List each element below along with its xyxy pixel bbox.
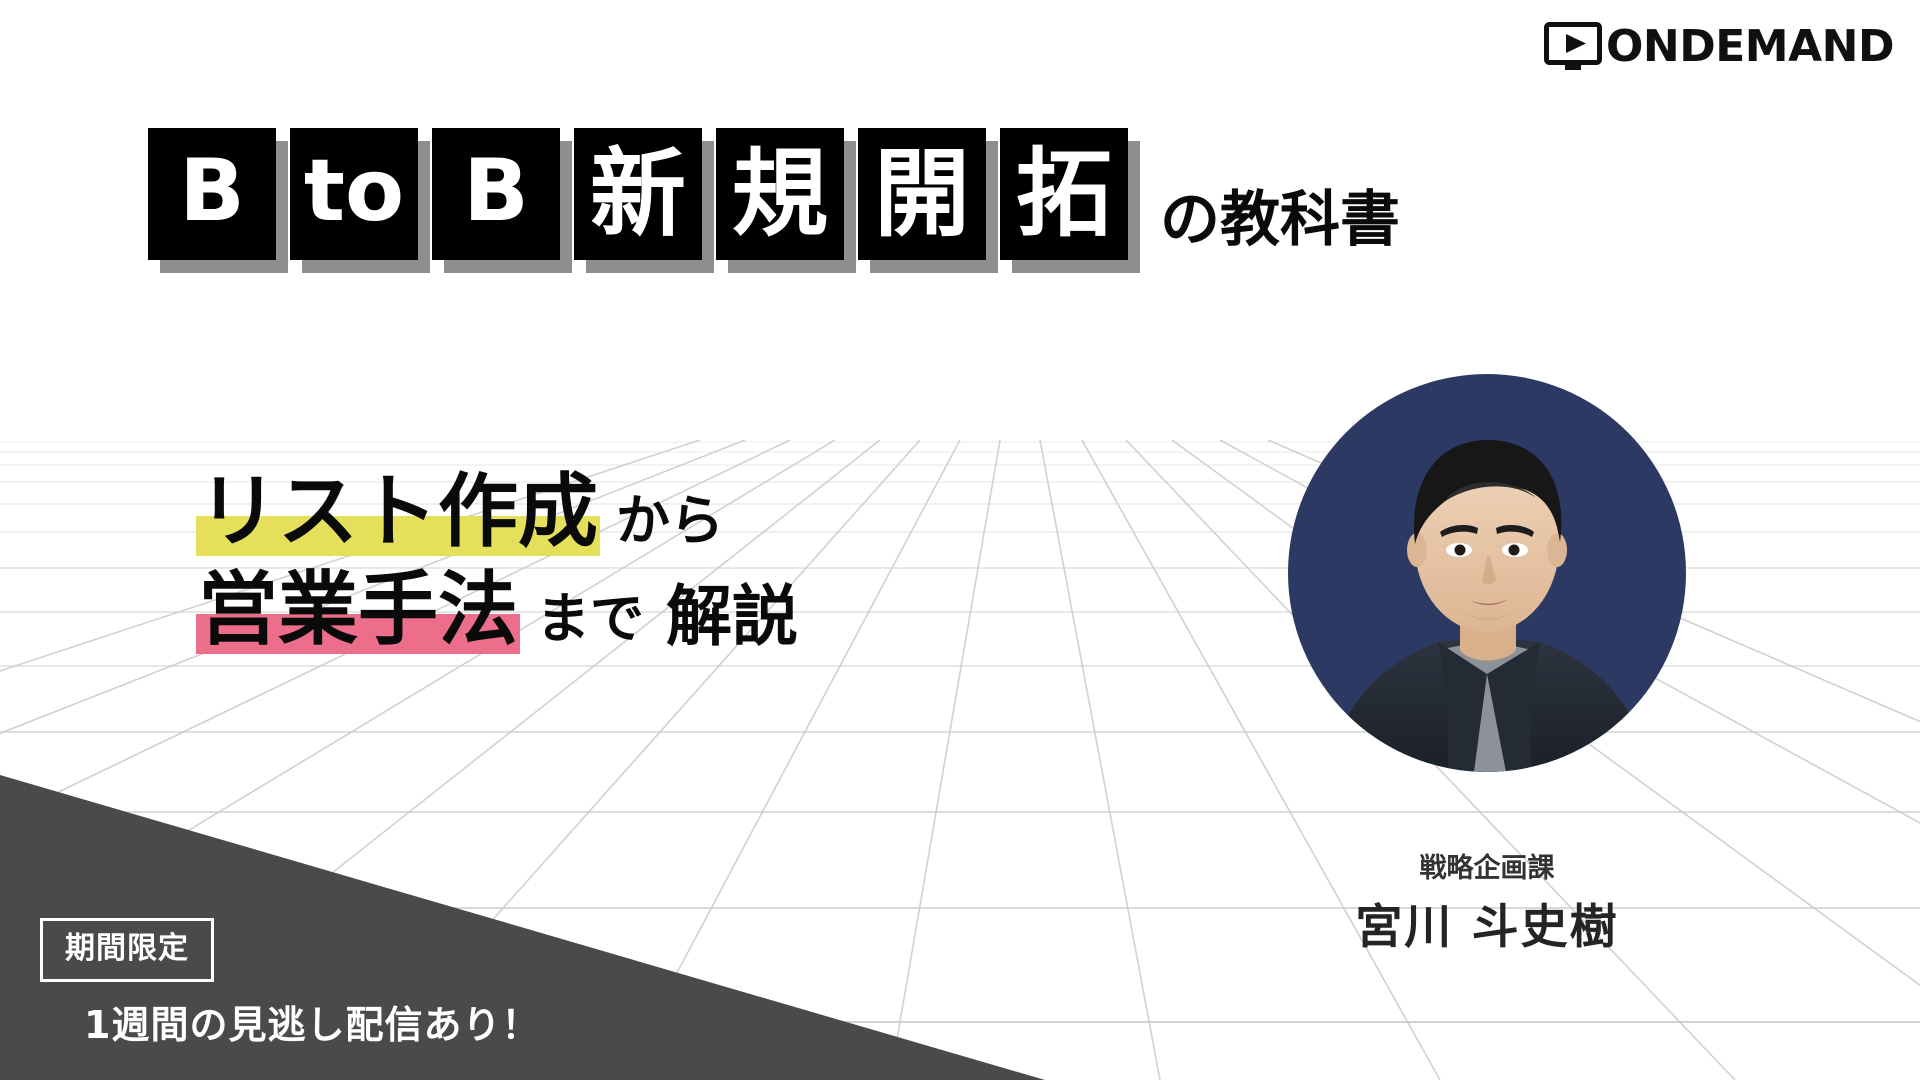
slide-canvas: ONDEMAND B to B 新 規 開 拓 の: [0, 0, 1920, 1080]
headline-block: B: [432, 128, 560, 260]
headline-block: 開: [858, 128, 986, 260]
headline-block-label: 規: [716, 128, 844, 260]
headline-block-label: B: [148, 128, 276, 260]
speaker-photo: [1288, 374, 1686, 772]
headline-blocks: B to B 新 規 開 拓 の教科書: [148, 128, 1400, 260]
speaker-name: 宮川 斗史樹: [1288, 904, 1686, 951]
headline-block-label: 新: [574, 128, 702, 260]
subtitle-tail-1: から: [616, 494, 724, 552]
subtitle-highlight-text: リスト作成: [198, 465, 598, 558]
replay-availability-text: 1週間の見逃し配信あり！: [84, 1006, 540, 1044]
subtitle-tail-3: 解説: [666, 584, 798, 650]
subtitle-tail-2: まで: [536, 592, 644, 650]
speaker-department: 戦略企画課: [1288, 855, 1686, 882]
subtitle-highlight-sales: 営業手法: [196, 570, 520, 650]
subtitle-line-2: 営業手法 まで 解説: [196, 570, 798, 650]
subtitle-highlight-text: 営業手法: [198, 563, 518, 656]
headline-block: 新: [574, 128, 702, 260]
headline-block-label: 拓: [1000, 128, 1128, 260]
headline-block-label: 開: [858, 128, 986, 260]
promo-group: 期間限定 1週間の見逃し配信あり！: [40, 918, 540, 1044]
subtitle-group: リスト作成 から 営業手法 まで 解説: [196, 472, 798, 650]
portrait-illustration: [1288, 374, 1686, 772]
subtitle-line-1: リスト作成 から: [196, 472, 798, 552]
headline-suffix: の教科書: [1160, 190, 1400, 260]
headline-block-label: B: [432, 128, 560, 260]
headline-block: 規: [716, 128, 844, 260]
headline-block: B: [148, 128, 276, 260]
speaker-info: 戦略企画課 宮川 斗史樹: [1288, 855, 1686, 951]
headline-block: to: [290, 128, 418, 260]
headline-block-label: to: [290, 128, 418, 260]
monitor-play-icon: [1544, 22, 1602, 72]
headline-block: 拓: [1000, 128, 1128, 260]
limited-time-badge: 期間限定: [40, 918, 214, 982]
subtitle-highlight-list: リスト作成: [196, 472, 600, 552]
brand-logo: ONDEMAND: [1544, 22, 1894, 72]
logo-wordmark: ONDEMAND: [1606, 25, 1894, 69]
